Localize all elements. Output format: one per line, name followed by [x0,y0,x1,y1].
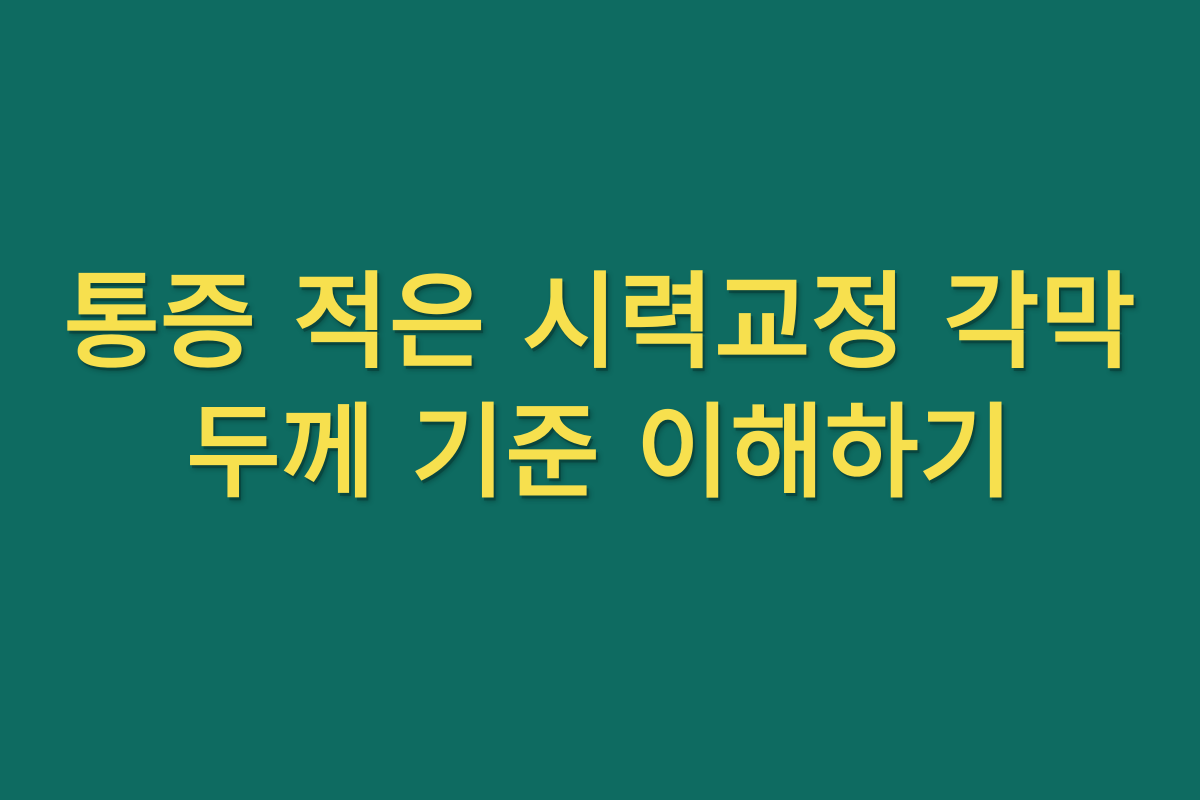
title-line-1: 통증 적은 시력교정 각막 [45,256,1155,389]
page-title: 통증 적은 시력교정 각막 두께 기준 이해하기 [45,256,1155,520]
title-line-2: 두께 기준 이해하기 [45,389,1155,520]
title-banner: 통증 적은 시력교정 각막 두께 기준 이해하기 [0,0,1200,800]
